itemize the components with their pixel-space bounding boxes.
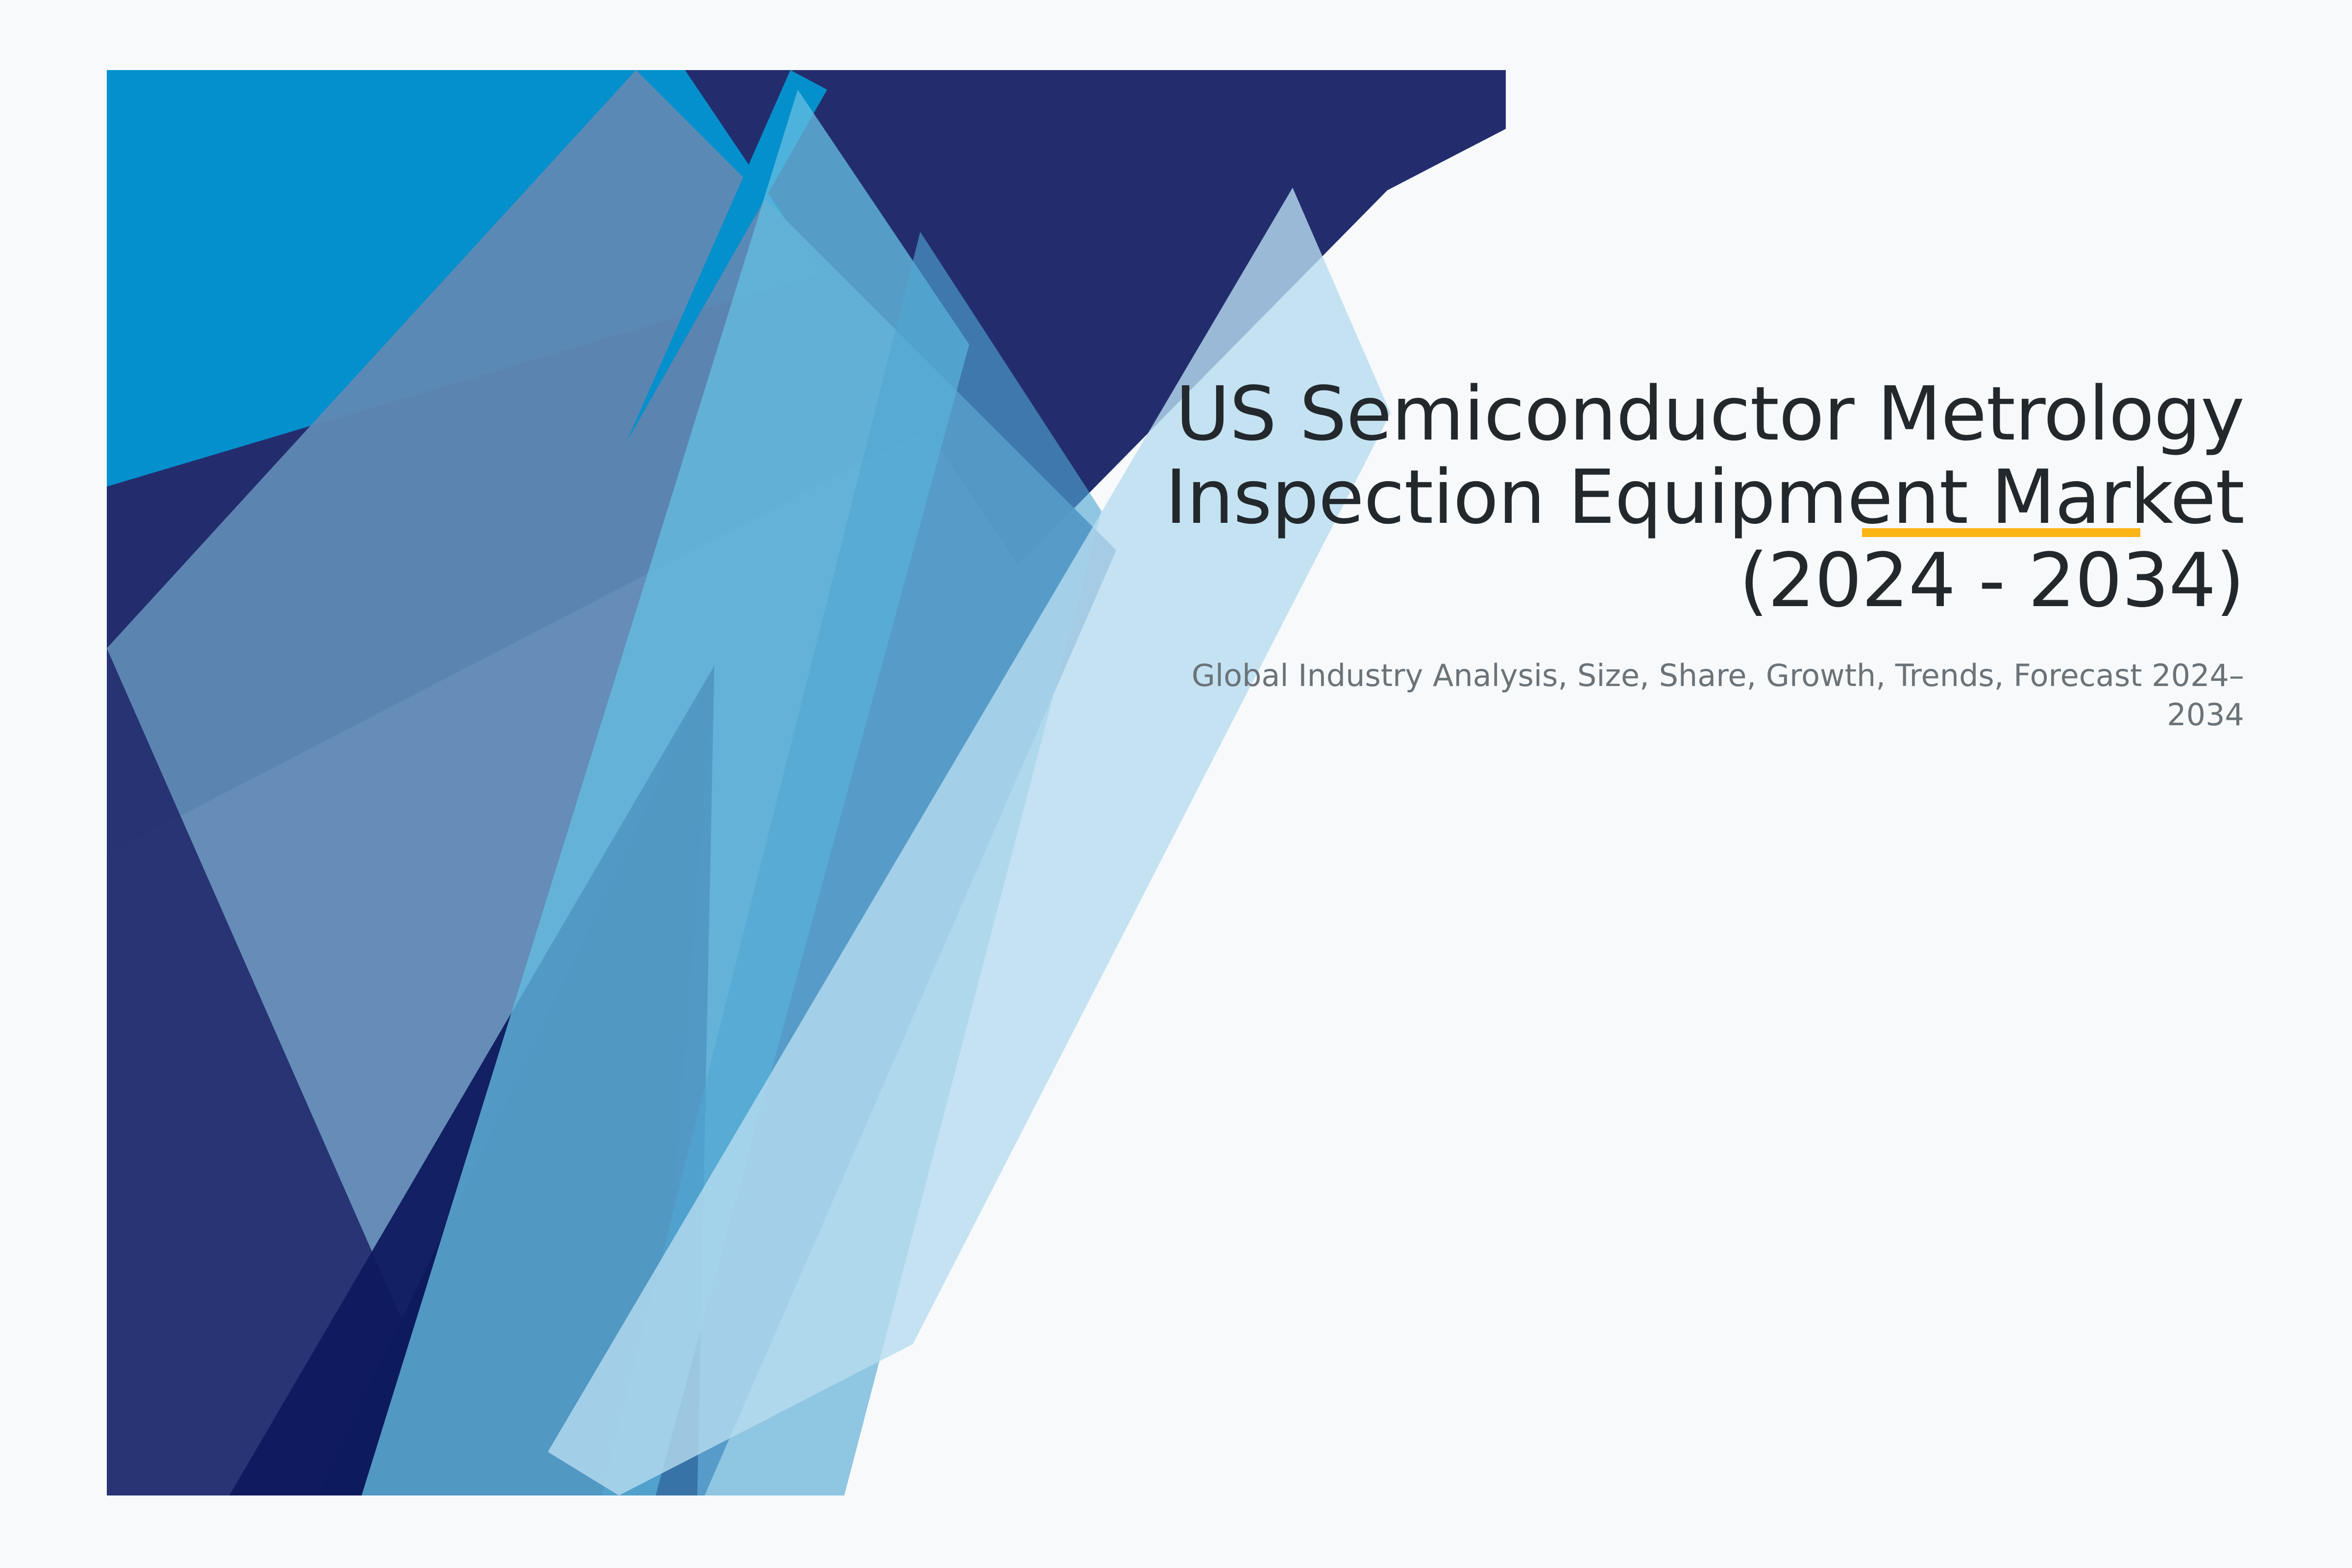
page-subtitle: Global Industry Analysis, Size, Share, G… [1117,656,2244,735]
artwork-svg [107,70,1506,1495]
yellow-underline-accent [1862,528,2140,537]
cover-page: US Semiconductor Metrology Inspection Eq… [0,0,2352,1568]
abstract-geometric-cover-graphic [107,70,1506,1495]
page-title: US Semiconductor Metrology Inspection Eq… [1117,372,2244,623]
cover-text-block: US Semiconductor Metrology Inspection Eq… [1117,372,2244,735]
